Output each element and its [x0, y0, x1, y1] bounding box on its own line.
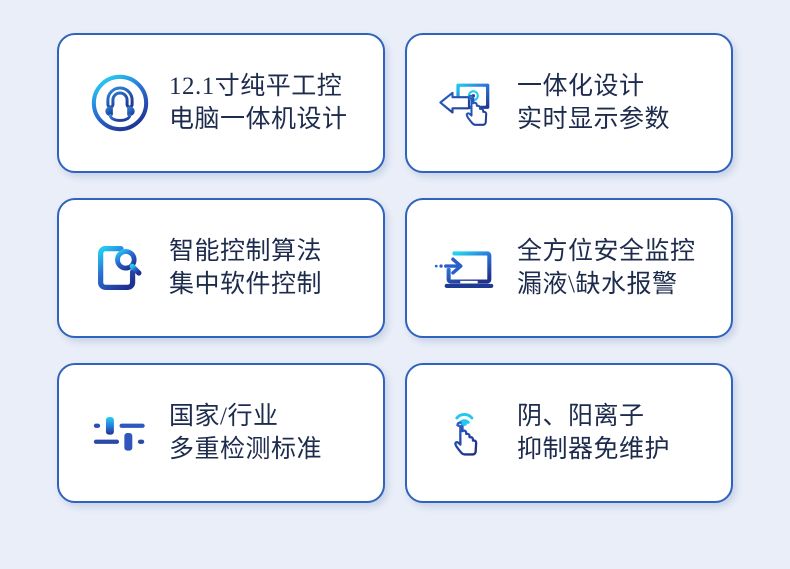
- document-search-icon: [77, 225, 163, 311]
- feature-card-6-line2: 抑制器免维护: [517, 433, 721, 466]
- feature-card-2-line1: 一体化设计: [517, 70, 721, 103]
- feature-card-5[interactable]: 国家/行业 多重检测标准: [57, 363, 385, 503]
- feature-card-3[interactable]: 智能控制算法 集中软件控制: [57, 198, 385, 338]
- feature-card-grid: 12.1寸纯平工控 电脑一体机设计: [0, 0, 790, 569]
- touchscreen-hand-icon: [425, 60, 511, 146]
- feature-card-2[interactable]: 一体化设计 实时显示参数: [405, 33, 733, 173]
- tap-hand-icon: [425, 390, 511, 476]
- feature-card-4-line1: 全方位安全监控: [517, 235, 721, 268]
- feature-card-6[interactable]: 阴、阳离子 抑制器免维护: [405, 363, 733, 503]
- feature-card-1-line1: 12.1寸纯平工控: [169, 70, 373, 103]
- feature-card-4-line2: 漏液\缺水报警: [517, 268, 721, 301]
- feature-card-5-text: 国家/行业 多重检测标准: [163, 400, 383, 467]
- feature-card-6-text: 阴、阳离子 抑制器免维护: [511, 400, 731, 467]
- feature-card-2-line2: 实时显示参数: [517, 103, 721, 136]
- feature-card-3-line2: 集中软件控制: [169, 268, 373, 301]
- feature-card-4[interactable]: 全方位安全监控 漏液\缺水报警: [405, 198, 733, 338]
- feature-card-3-line1: 智能控制算法: [169, 235, 373, 268]
- feature-card-3-text: 智能控制算法 集中软件控制: [163, 235, 383, 302]
- feature-card-1-line2: 电脑一体机设计: [169, 103, 373, 136]
- feature-card-4-text: 全方位安全监控 漏液\缺水报警: [511, 235, 731, 302]
- monitor-arrow-in-icon: [425, 225, 511, 311]
- feature-card-5-line1: 国家/行业: [169, 400, 373, 433]
- feature-card-1-text: 12.1寸纯平工控 电脑一体机设计: [163, 70, 383, 137]
- headset-circle-icon: [77, 60, 163, 146]
- sliders-icon: [77, 390, 163, 476]
- feature-card-5-line2: 多重检测标准: [169, 433, 373, 466]
- feature-card-1[interactable]: 12.1寸纯平工控 电脑一体机设计: [57, 33, 385, 173]
- feature-card-6-line1: 阴、阳离子: [517, 400, 721, 433]
- feature-card-2-text: 一体化设计 实时显示参数: [511, 70, 731, 137]
